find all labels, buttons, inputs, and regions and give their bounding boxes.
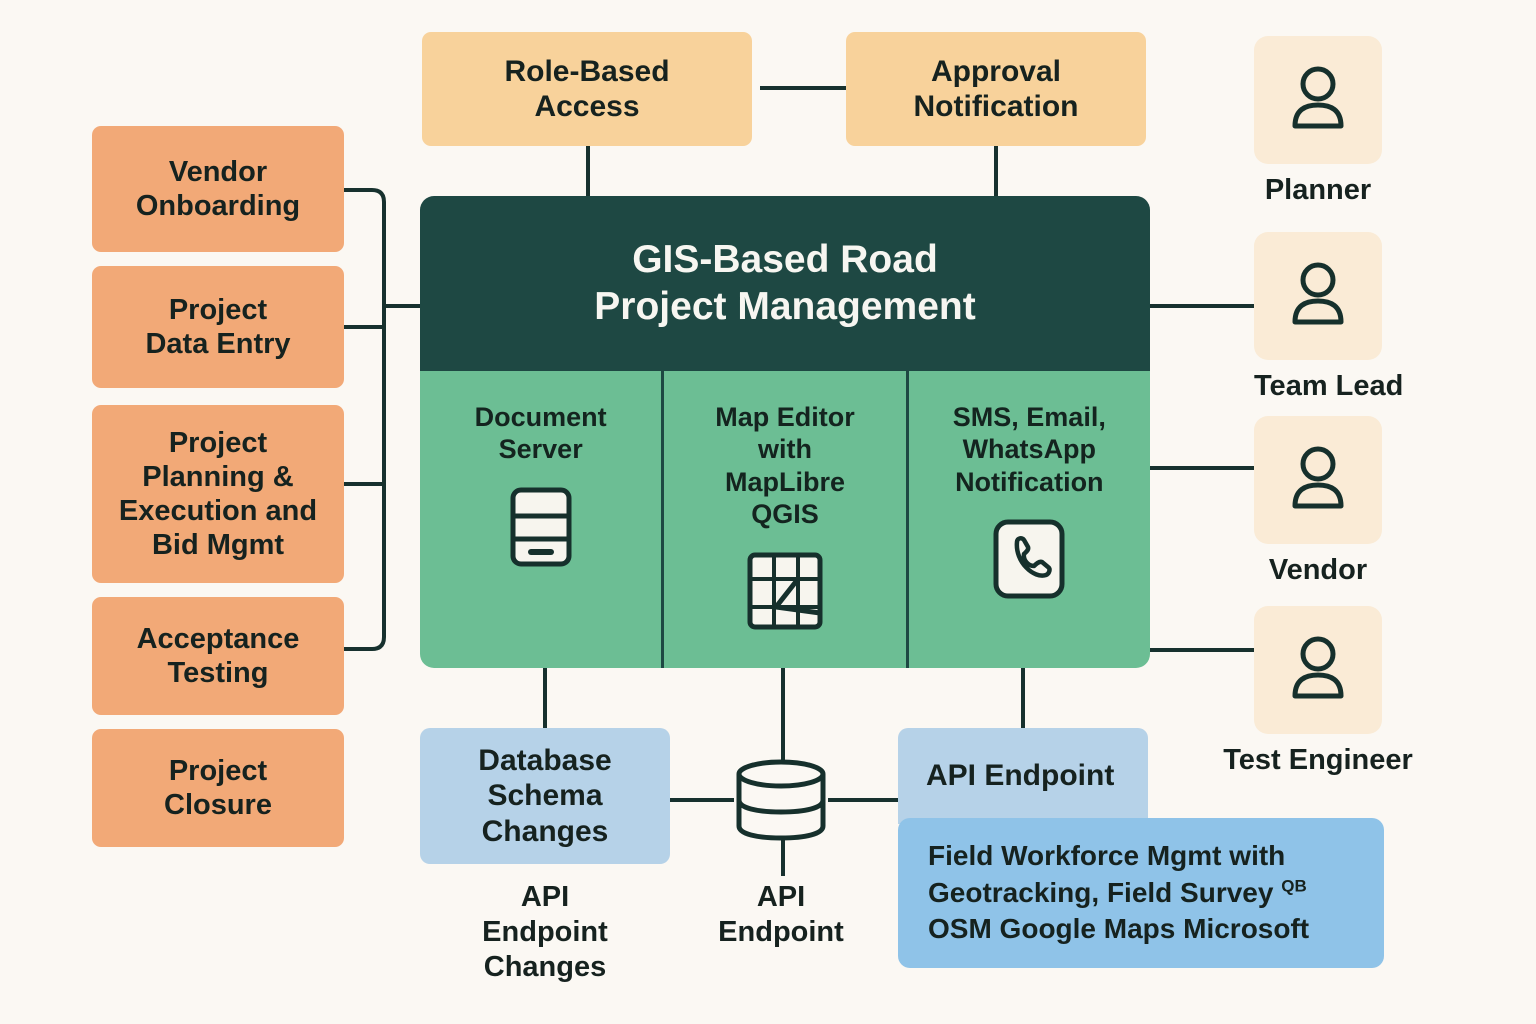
connector-platform-vendor (1150, 466, 1254, 470)
map-grid-icon (746, 551, 824, 636)
caption-api-endpoint: APIEndpoint (676, 880, 886, 950)
connector-db-schema-cylinder (670, 798, 734, 802)
user-icon (1287, 260, 1349, 333)
connector-cylinder-caption (781, 840, 785, 876)
persona-label: Team Lead (1254, 370, 1382, 403)
module-document-server[interactable]: DocumentServer (420, 371, 661, 668)
lifecycle-label: AcceptanceTesting (137, 622, 300, 690)
platform-modules: DocumentServer Map EditorwithMapLibreQGI… (420, 371, 1150, 668)
module-label: DocumentServer (475, 401, 607, 466)
persona-label: Vendor (1254, 554, 1382, 587)
lifecycle-item-acceptance-testing[interactable]: AcceptanceTesting (92, 597, 344, 715)
lifecycle-item-project-planning-execution-bid-mgmt[interactable]: ProjectPlanning &Execution andBid Mgmt (92, 405, 344, 583)
user-icon (1287, 444, 1349, 517)
persona-tile (1254, 36, 1382, 164)
persona-vendor[interactable]: Vendor (1254, 416, 1382, 587)
chip-label: Role-BasedAccess (504, 54, 669, 125)
module-map-editor[interactable]: Map EditorwithMapLibreQGIS (661, 371, 905, 668)
persona-tile (1254, 606, 1382, 734)
lifecycle-label: ProjectPlanning &Execution andBid Mgmt (119, 426, 317, 563)
diagram-canvas: VendorOnboarding ProjectData Entry Proje… (0, 0, 1536, 1024)
chip-label: ApprovalNotification (914, 54, 1079, 125)
connector-platform-api-endpoint (1021, 668, 1025, 728)
api-endpoint-label: API Endpoint (926, 758, 1114, 793)
persona-label: Planner (1254, 174, 1382, 207)
persona-label: Test Engineer (1212, 744, 1424, 777)
persona-tile (1254, 232, 1382, 360)
field-workforce-superscript: QB (1281, 876, 1307, 895)
persona-planner[interactable]: Planner (1254, 36, 1382, 207)
persona-team-lead[interactable]: Team Lead (1254, 232, 1382, 403)
lifecycle-item-project-data-entry[interactable]: ProjectData Entry (92, 266, 344, 388)
lifecycle-label: VendorOnboarding (136, 155, 300, 223)
database-cylinder-icon (731, 758, 831, 842)
field-workforce-label: Field Workforce Mgmt with Geotracking, F… (928, 838, 1309, 949)
page-title: GIS-Based RoadProject Management (594, 237, 975, 331)
connector-platform-cylinder (781, 668, 785, 760)
field-workforce-box[interactable]: Field Workforce Mgmt with Geotracking, F… (898, 818, 1384, 968)
module-label: Map EditorwithMapLibreQGIS (715, 401, 855, 531)
platform-header: GIS-Based RoadProject Management (420, 196, 1150, 371)
database-schema-changes-box[interactable]: DatabaseSchemaChanges (420, 728, 670, 864)
api-endpoint-box[interactable]: API Endpoint (898, 728, 1148, 824)
persona-test-engineer[interactable]: Test Engineer (1254, 606, 1382, 777)
user-icon (1287, 634, 1349, 707)
db-schema-label: DatabaseSchemaChanges (478, 743, 611, 849)
module-notification[interactable]: SMS, Email,WhatsAppNotification (906, 371, 1150, 668)
server-icon (509, 486, 573, 573)
module-label: SMS, Email,WhatsAppNotification (953, 401, 1106, 498)
persona-tile (1254, 416, 1382, 544)
connector-platform-db-schema (543, 668, 547, 728)
user-icon (1287, 64, 1349, 137)
phone-icon (992, 518, 1066, 605)
connector-platform-team-lead (1150, 304, 1254, 308)
lifecycle-item-project-closure[interactable]: ProjectClosure (92, 729, 344, 847)
caption-api-endpoint-changes: APIEndpoint Changes (420, 880, 670, 984)
connector-cylinder-api-endpoint (828, 798, 900, 802)
lifecycle-label: ProjectData Entry (145, 293, 290, 361)
lifecycle-item-vendor-onboarding[interactable]: VendorOnboarding (92, 126, 344, 252)
platform-container: GIS-Based RoadProject Management Documen… (420, 196, 1150, 668)
chip-approval-notification[interactable]: ApprovalNotification (846, 32, 1146, 146)
chip-role-based-access[interactable]: Role-BasedAccess (422, 32, 752, 146)
connector-platform-test-engineer (1150, 648, 1254, 652)
lifecycle-label: ProjectClosure (164, 754, 272, 822)
